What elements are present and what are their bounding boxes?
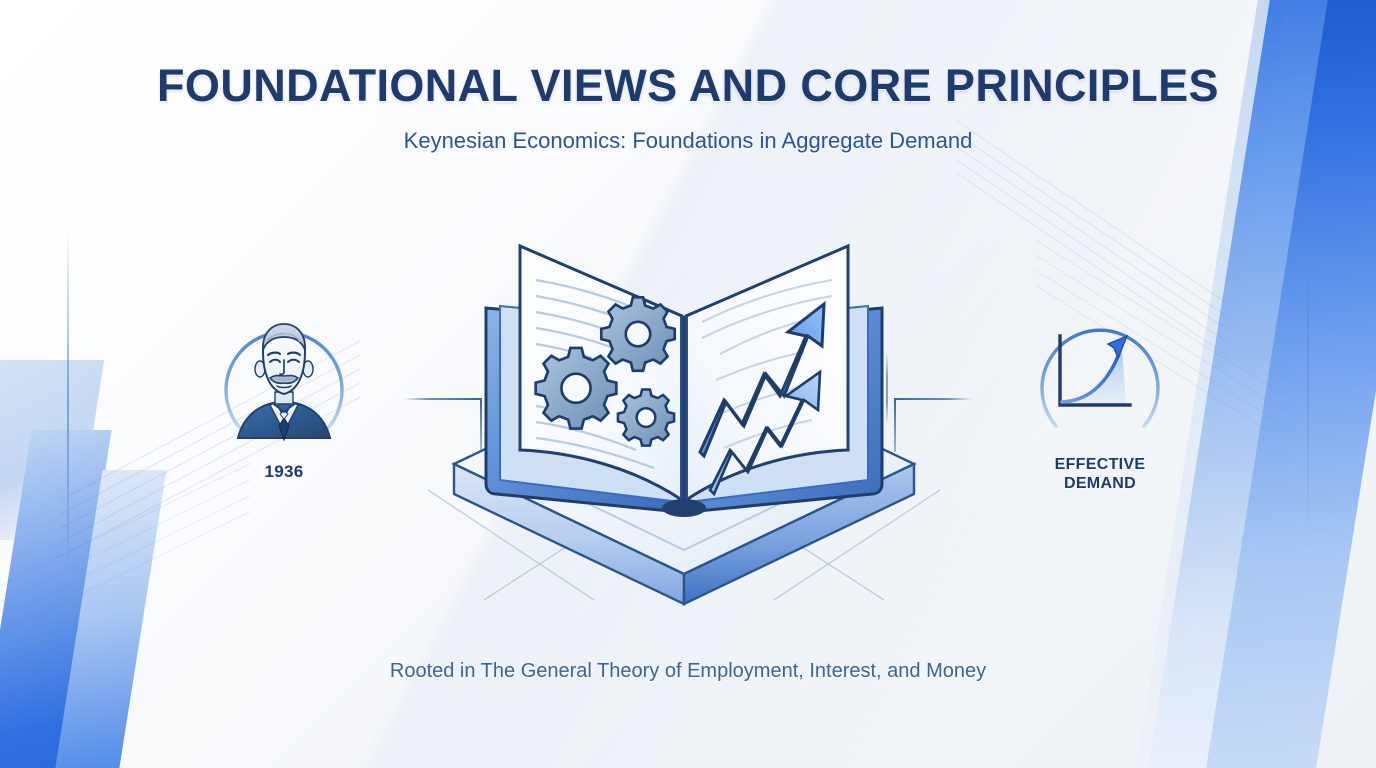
badge-left-label: 1936: [199, 462, 369, 482]
growth-chart-icon: [1026, 306, 1174, 454]
left-vertical-rule: [67, 226, 69, 626]
page-title: FOUNDATIONAL VIEWS AND CORE PRINCIPLES: [0, 60, 1376, 112]
center-illustration: [424, 200, 944, 640]
left-accent-band-strong: [0, 430, 112, 768]
page-subtitle: Keynesian Economics: Foundations in Aggr…: [0, 128, 1376, 154]
footer-caption: Rooted in The General Theory of Employme…: [0, 660, 1376, 683]
badge-left[interactable]: 1936: [199, 306, 369, 482]
growth-chart-ring: [1026, 306, 1174, 454]
right-vertical-rule: [1307, 190, 1309, 530]
left-accent-band-mid: [45, 470, 166, 768]
left-accent-band-soft: [0, 360, 104, 540]
badge-right-label: EFFECTIVE DEMAND: [1015, 456, 1185, 494]
portrait-economist-icon: [210, 306, 358, 454]
title-block: FOUNDATIONAL VIEWS AND CORE PRINCIPLES K…: [0, 60, 1376, 154]
badge-right-label-line2: DEMAND: [1015, 475, 1185, 494]
badge-right[interactable]: EFFECTIVE DEMAND: [1015, 306, 1185, 494]
open-book: [486, 246, 882, 517]
open-book-on-pedestal-icon: [424, 200, 944, 640]
slide-canvas: FOUNDATIONAL VIEWS AND CORE PRINCIPLES K…: [0, 0, 1376, 768]
portrait-ring: [210, 306, 358, 454]
badge-right-label-line1: EFFECTIVE: [1015, 456, 1185, 475]
